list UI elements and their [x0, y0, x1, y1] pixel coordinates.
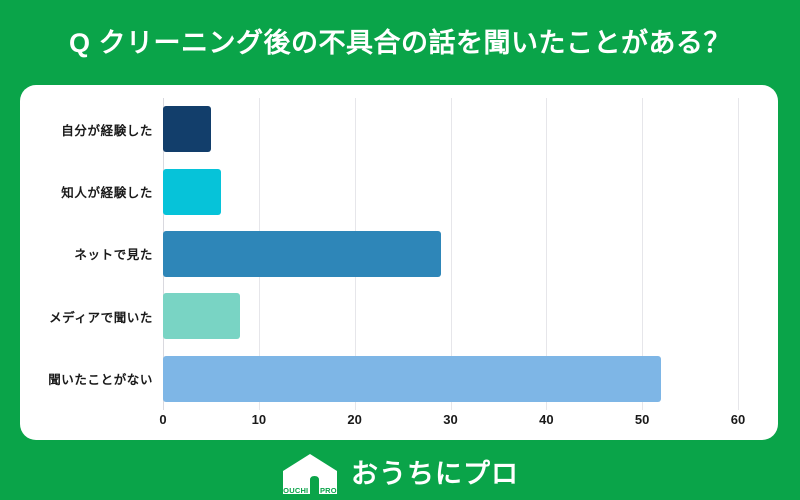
bar-row: ネットで見た — [163, 223, 738, 285]
bar[interactable] — [163, 293, 240, 339]
x-tick-label: 0 — [159, 412, 166, 427]
page-title: Q クリーニング後の不具合の話を聞いたことがある？ — [0, 16, 800, 64]
house-icon: OUCHI ni PRO — [281, 453, 339, 495]
category-label: ネットで見た — [74, 244, 153, 263]
chart-panel: 自分が経験した知人が経験したネットで見たメディアで聞いた聞いたことがない 010… — [20, 85, 778, 440]
category-label: 自分が経験した — [61, 120, 153, 139]
bar[interactable] — [163, 231, 441, 277]
footer-branding: OUCHI ni PRO おうちにプロ — [0, 448, 800, 500]
bar[interactable] — [163, 106, 211, 152]
x-tick-label: 10 — [252, 412, 266, 427]
bar[interactable] — [163, 356, 661, 402]
logo-wordmark: おうちにプロ — [351, 461, 519, 488]
x-tick-label: 20 — [347, 412, 361, 427]
bar[interactable] — [163, 169, 221, 215]
bar-row: 聞いたことがない — [163, 348, 738, 410]
logo-mark-text: OUCHI ni PRO — [281, 487, 339, 495]
plot-area: 自分が経験した知人が経験したネットで見たメディアで聞いた聞いたことがない — [163, 98, 738, 410]
x-axis: 0102030405060 — [163, 410, 738, 434]
x-tick-label: 50 — [635, 412, 649, 427]
chart-screenshot: Q クリーニング後の不具合の話を聞いたことがある？ 自分が経験した知人が経験した… — [0, 0, 800, 500]
gridline-60 — [738, 98, 739, 410]
x-tick-label: 30 — [443, 412, 457, 427]
x-tick-label: 40 — [539, 412, 553, 427]
bar-row: メディアで聞いた — [163, 285, 738, 347]
category-label: メディアで聞いた — [49, 307, 153, 326]
bar-row: 自分が経験した — [163, 98, 738, 160]
category-label: 知人が経験した — [61, 182, 153, 201]
bar-row: 知人が経験した — [163, 160, 738, 222]
category-label: 聞いたことがない — [48, 369, 153, 388]
x-tick-label: 60 — [731, 412, 745, 427]
